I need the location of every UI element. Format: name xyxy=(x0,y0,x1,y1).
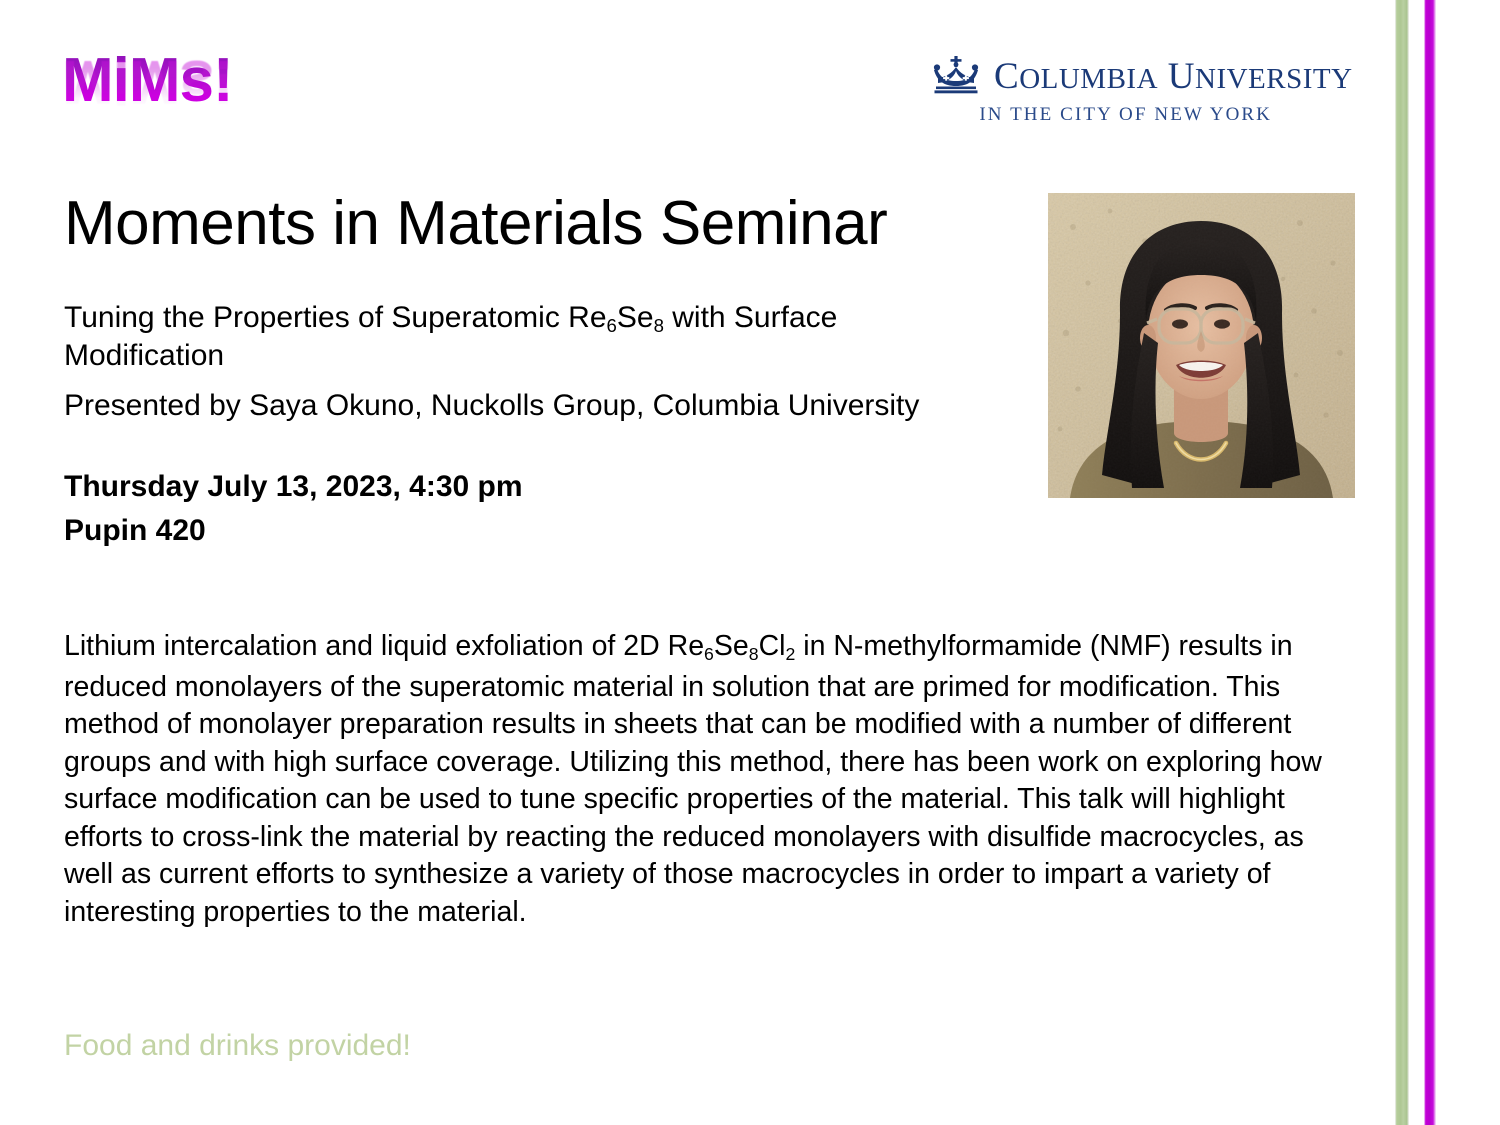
columbia-university-logo: COLUMBIA UNIVERSITY IN THE CITY OF NEW Y… xyxy=(932,55,1362,127)
speaker-photo xyxy=(1048,193,1355,498)
presenter-line: Presented by Saya Okuno, Nuckolls Group,… xyxy=(64,388,964,423)
decorative-bar-magenta xyxy=(1424,0,1436,1125)
seminar-location: Pupin 420 xyxy=(64,513,964,548)
seminar-datetime: Thursday July 13, 2023, 4:30 pm xyxy=(64,469,964,504)
page-title: Moments in Materials Seminar xyxy=(64,188,1024,260)
mims-logo: MiMs! MiMs! xyxy=(62,50,362,160)
columbia-wordmark: COLUMBIA UNIVERSITY xyxy=(994,57,1353,99)
talk-title: Tuning the Properties of Superatomic Re6… xyxy=(64,300,964,373)
abstract-text: Lithium intercalation and liquid exfolia… xyxy=(64,628,1340,931)
food-note: Food and drinks provided! xyxy=(64,1028,764,1064)
crown-icon xyxy=(932,55,980,100)
mims-logo-reflection: MiMs! xyxy=(62,50,233,112)
decorative-bar-green xyxy=(1395,0,1409,1125)
columbia-tagline: IN THE CITY OF NEW YORK xyxy=(932,103,1362,127)
columbia-wordmark-row: COLUMBIA UNIVERSITY xyxy=(932,55,1362,100)
